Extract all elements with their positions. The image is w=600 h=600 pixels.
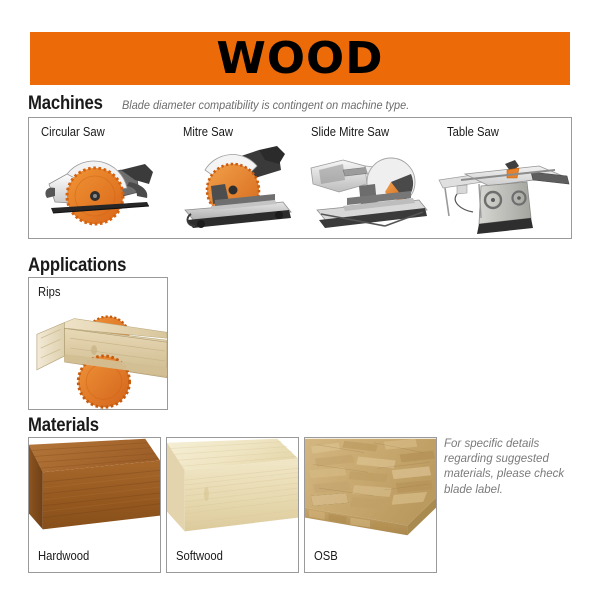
application-cell-rips[interactable]: Rips <box>28 277 168 410</box>
machines-panel: Circular Saw <box>28 117 572 239</box>
mitre-saw-icon <box>171 140 299 238</box>
material-label-softwood: Softwood <box>176 549 223 563</box>
hardwood-block-icon <box>29 438 160 542</box>
wood-header-banner: WOOD <box>30 32 570 85</box>
slide-mitre-saw-icon <box>299 140 435 238</box>
machine-cell-table-saw[interactable]: Table Saw <box>435 118 572 238</box>
applications-section-header: Applications <box>28 255 140 277</box>
osb-board-icon <box>305 438 436 542</box>
materials-note: For specific details regarding suggested… <box>444 437 574 498</box>
materials-section-header: Materials <box>28 415 109 437</box>
material-cell-softwood[interactable]: Softwood <box>166 437 299 573</box>
machine-cell-mitre-saw[interactable]: Mitre Saw <box>171 118 299 238</box>
machines-heading: Machines <box>28 93 103 115</box>
application-label-rips: Rips <box>38 285 61 299</box>
table-saw-icon <box>435 140 572 238</box>
softwood-block-icon <box>167 438 298 542</box>
page-title: WOOD <box>216 37 383 81</box>
machines-note: Blade diameter compatibility is continge… <box>122 100 409 112</box>
machine-cell-circular-saw[interactable]: Circular Saw <box>29 118 171 238</box>
rip-cut-icon <box>29 298 167 410</box>
material-label-osb: OSB <box>314 549 338 563</box>
material-cell-osb[interactable]: OSB <box>304 437 437 573</box>
machine-cell-slide-mitre-saw[interactable]: Slide Mitre Saw <box>299 118 435 238</box>
materials-heading: Materials <box>28 415 99 437</box>
machine-label-table-saw: Table Saw <box>447 125 499 139</box>
machine-label-mitre-saw: Mitre Saw <box>183 125 233 139</box>
material-label-hardwood: Hardwood <box>38 549 89 563</box>
circular-saw-icon <box>29 140 171 238</box>
material-cell-hardwood[interactable]: Hardwood <box>28 437 161 573</box>
machine-label-slide-mitre-saw: Slide Mitre Saw <box>311 125 389 139</box>
applications-heading: Applications <box>28 255 126 277</box>
machine-label-circular-saw: Circular Saw <box>41 125 105 139</box>
machines-section-header: Machines Blade diameter compatibility is… <box>28 93 424 115</box>
